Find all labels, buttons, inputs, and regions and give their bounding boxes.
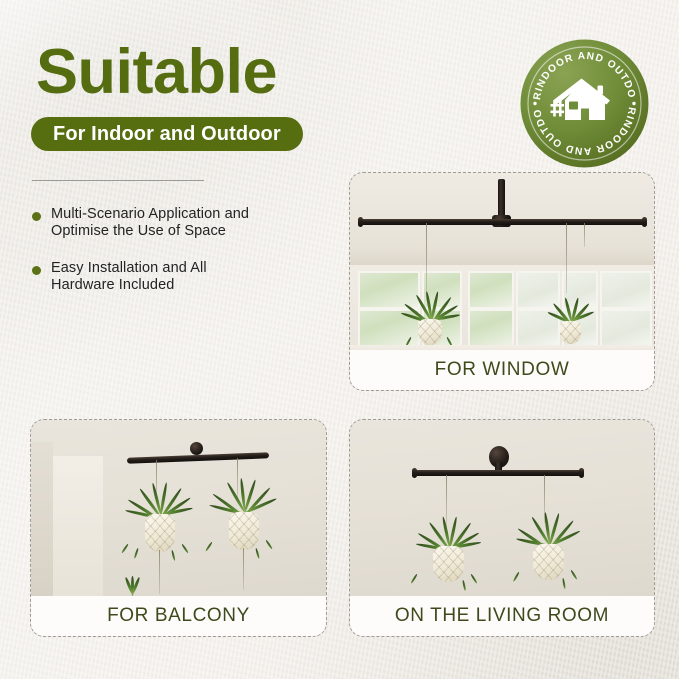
infographic-page: Suitable For Indoor and Outdoor Multi-Sc… [0, 0, 679, 679]
scene-caption-bar: FOR BALCONY [31, 596, 326, 636]
hanging-plant [508, 512, 592, 596]
feature-text: Easy Installation and All Hardware Inclu… [51, 260, 207, 294]
badge-dot-left [533, 102, 536, 105]
feature-text: Multi-Scenario Application and Optimise … [51, 206, 249, 240]
scene-card-window[interactable]: FOR WINDOW [349, 172, 655, 391]
hanging-wire [426, 223, 427, 301]
feature-line-1: Multi-Scenario Application and [51, 206, 249, 222]
plant-pot [560, 321, 581, 344]
subtitle-pill-label: For Indoor and Outdoor [53, 123, 281, 146]
feature-line-2: Hardware Included [51, 277, 174, 293]
scene-caption: FOR WINDOW [435, 359, 570, 381]
badge-svg: FORINDOOR AND OUTDOOR FORINDOOR AND OUTD… [519, 38, 650, 169]
bullet-dot-icon [32, 212, 41, 221]
door-panel [53, 456, 103, 596]
window-pane [468, 309, 514, 347]
subtitle-pill: For Indoor and Outdoor [31, 117, 303, 151]
rod-end-cap [412, 468, 417, 478]
mount-disc [190, 442, 203, 455]
window-pane [600, 271, 652, 309]
page-title: Suitable [36, 36, 277, 108]
hanging-plant [394, 291, 468, 350]
scene-caption: ON THE LIVING ROOM [395, 605, 609, 627]
scene-photo-window [350, 173, 654, 350]
hanging-plant [540, 297, 602, 350]
bullet-dot-icon [32, 266, 41, 275]
doorway [31, 442, 53, 596]
header-divider [32, 180, 204, 181]
plant-pot [433, 546, 464, 582]
hanging-wire [584, 223, 585, 247]
rod-end-cap [579, 468, 584, 478]
hanging-rod [358, 219, 647, 225]
scene-card-living-room[interactable]: ON THE LIVING ROOM [349, 419, 655, 637]
hanging-plant [408, 516, 492, 596]
plant-pot [229, 512, 259, 550]
scene-caption-bar: FOR WINDOW [350, 350, 654, 390]
indoor-outdoor-badge: FORINDOOR AND OUTDOOR FORINDOOR AND OUTD… [519, 38, 650, 169]
feature-line-2: Optimise the Use of Space [51, 223, 226, 239]
scene-photo-balcony [31, 420, 326, 596]
floor-plant [117, 572, 147, 596]
scene-caption: FOR BALCONY [107, 605, 250, 627]
list-item: Multi-Scenario Application and Optimise … [32, 206, 324, 240]
hanging-plant [203, 478, 285, 588]
scene-caption-bar: ON THE LIVING ROOM [350, 596, 654, 636]
plant-pot [533, 544, 564, 580]
rod-end-cap [358, 217, 363, 227]
hanging-wire [566, 223, 567, 293]
scene-card-balcony[interactable]: FOR BALCONY [30, 419, 327, 637]
window-pane [468, 271, 514, 309]
feature-list: Multi-Scenario Application and Optimise … [32, 206, 324, 314]
badge-dot-right [632, 102, 635, 105]
list-item: Easy Installation and All Hardware Inclu… [32, 260, 324, 294]
scene-photo-living-room [350, 420, 654, 596]
feature-line-1: Easy Installation and All [51, 260, 207, 276]
window-pane [600, 309, 652, 347]
rod-end-cap [642, 217, 647, 227]
plant-pot [418, 319, 442, 345]
hanging-rod [412, 470, 584, 476]
plant-pot [145, 514, 175, 552]
